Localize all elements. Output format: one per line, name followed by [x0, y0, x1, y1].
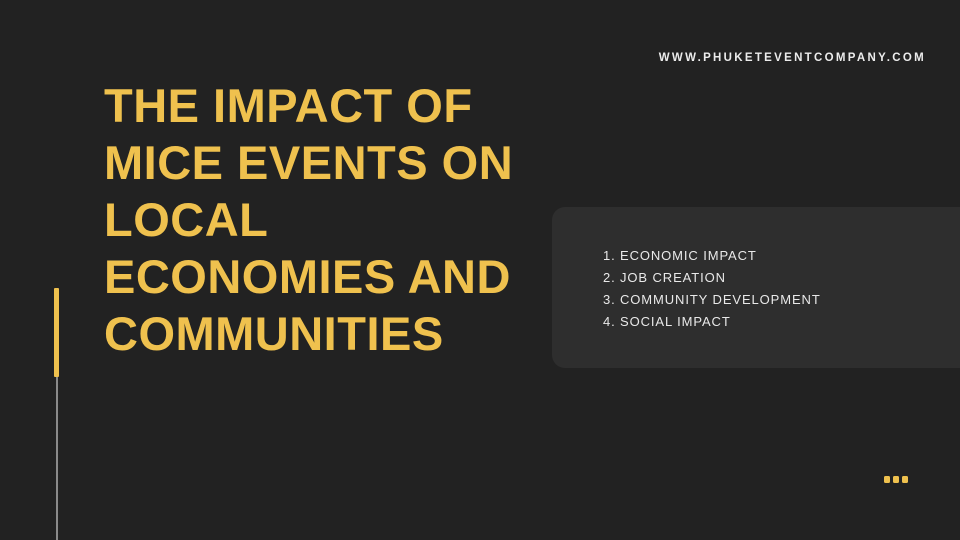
list-item-label: ECONOMIC IMPACT: [620, 245, 757, 267]
list-item-number: 3.: [603, 289, 620, 311]
list-item: 4. SOCIAL IMPACT: [603, 311, 821, 333]
dot-icon: [902, 476, 908, 483]
list-item-number: 4.: [603, 311, 620, 333]
list-item-number: 1.: [603, 245, 620, 267]
list-item: 1. ECONOMIC IMPACT: [603, 245, 821, 267]
list-item-label: COMMUNITY DEVELOPMENT: [620, 289, 821, 311]
list-item: 3. COMMUNITY DEVELOPMENT: [603, 289, 821, 311]
list-item-label: JOB CREATION: [620, 267, 726, 289]
list-item: 2. JOB CREATION: [603, 267, 821, 289]
agenda-card: 1. ECONOMIC IMPACT 2. JOB CREATION 3. CO…: [552, 207, 960, 368]
page-title: THE IMPACT OF MICE EVENTS ON LOCAL ECONO…: [104, 77, 524, 362]
agenda-list: 1. ECONOMIC IMPACT 2. JOB CREATION 3. CO…: [603, 245, 821, 333]
accent-thin-line: [56, 377, 58, 540]
dots-decoration-icon: [884, 476, 908, 483]
list-item-label: SOCIAL IMPACT: [620, 311, 731, 333]
slide-canvas: THE IMPACT OF MICE EVENTS ON LOCAL ECONO…: [0, 0, 960, 540]
dot-icon: [884, 476, 890, 483]
accent-bar: [54, 288, 59, 377]
website-url[interactable]: WWW.PHUKETEVENTCOMPANY.COM: [659, 52, 926, 64]
dot-icon: [893, 476, 899, 483]
list-item-number: 2.: [603, 267, 620, 289]
